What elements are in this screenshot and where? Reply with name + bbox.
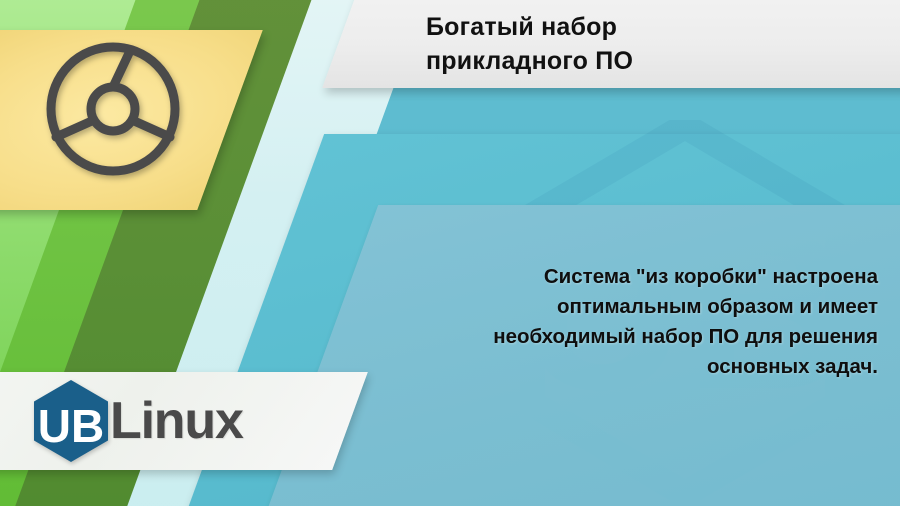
ub-hexagon-icon: UB bbox=[30, 378, 112, 464]
body-line-2: оптимальным образом и имеет bbox=[408, 292, 878, 322]
aperture-disc-icon bbox=[42, 38, 184, 180]
body-text-block: Система "из коробки" настроена оптимальн… bbox=[408, 262, 878, 382]
body-line-1: Система "из коробки" настроена bbox=[408, 262, 878, 292]
body-line-4: основных задач. bbox=[408, 352, 878, 382]
brand-wordmark: Linux bbox=[110, 395, 243, 447]
ub-hexagon-text: UB bbox=[38, 400, 104, 452]
title-line-2: прикладного ПО bbox=[426, 44, 900, 79]
title-line-1: Богатый набор bbox=[426, 10, 900, 45]
title-text-block: Богатый набор прикладного ПО bbox=[348, 0, 900, 88]
presentation-slide: UB Богатый набор прикладного ПО Система … bbox=[0, 0, 900, 506]
brand-logo: UB Linux bbox=[30, 378, 243, 464]
body-line-3: необходимый набор ПО для решения bbox=[408, 322, 878, 352]
